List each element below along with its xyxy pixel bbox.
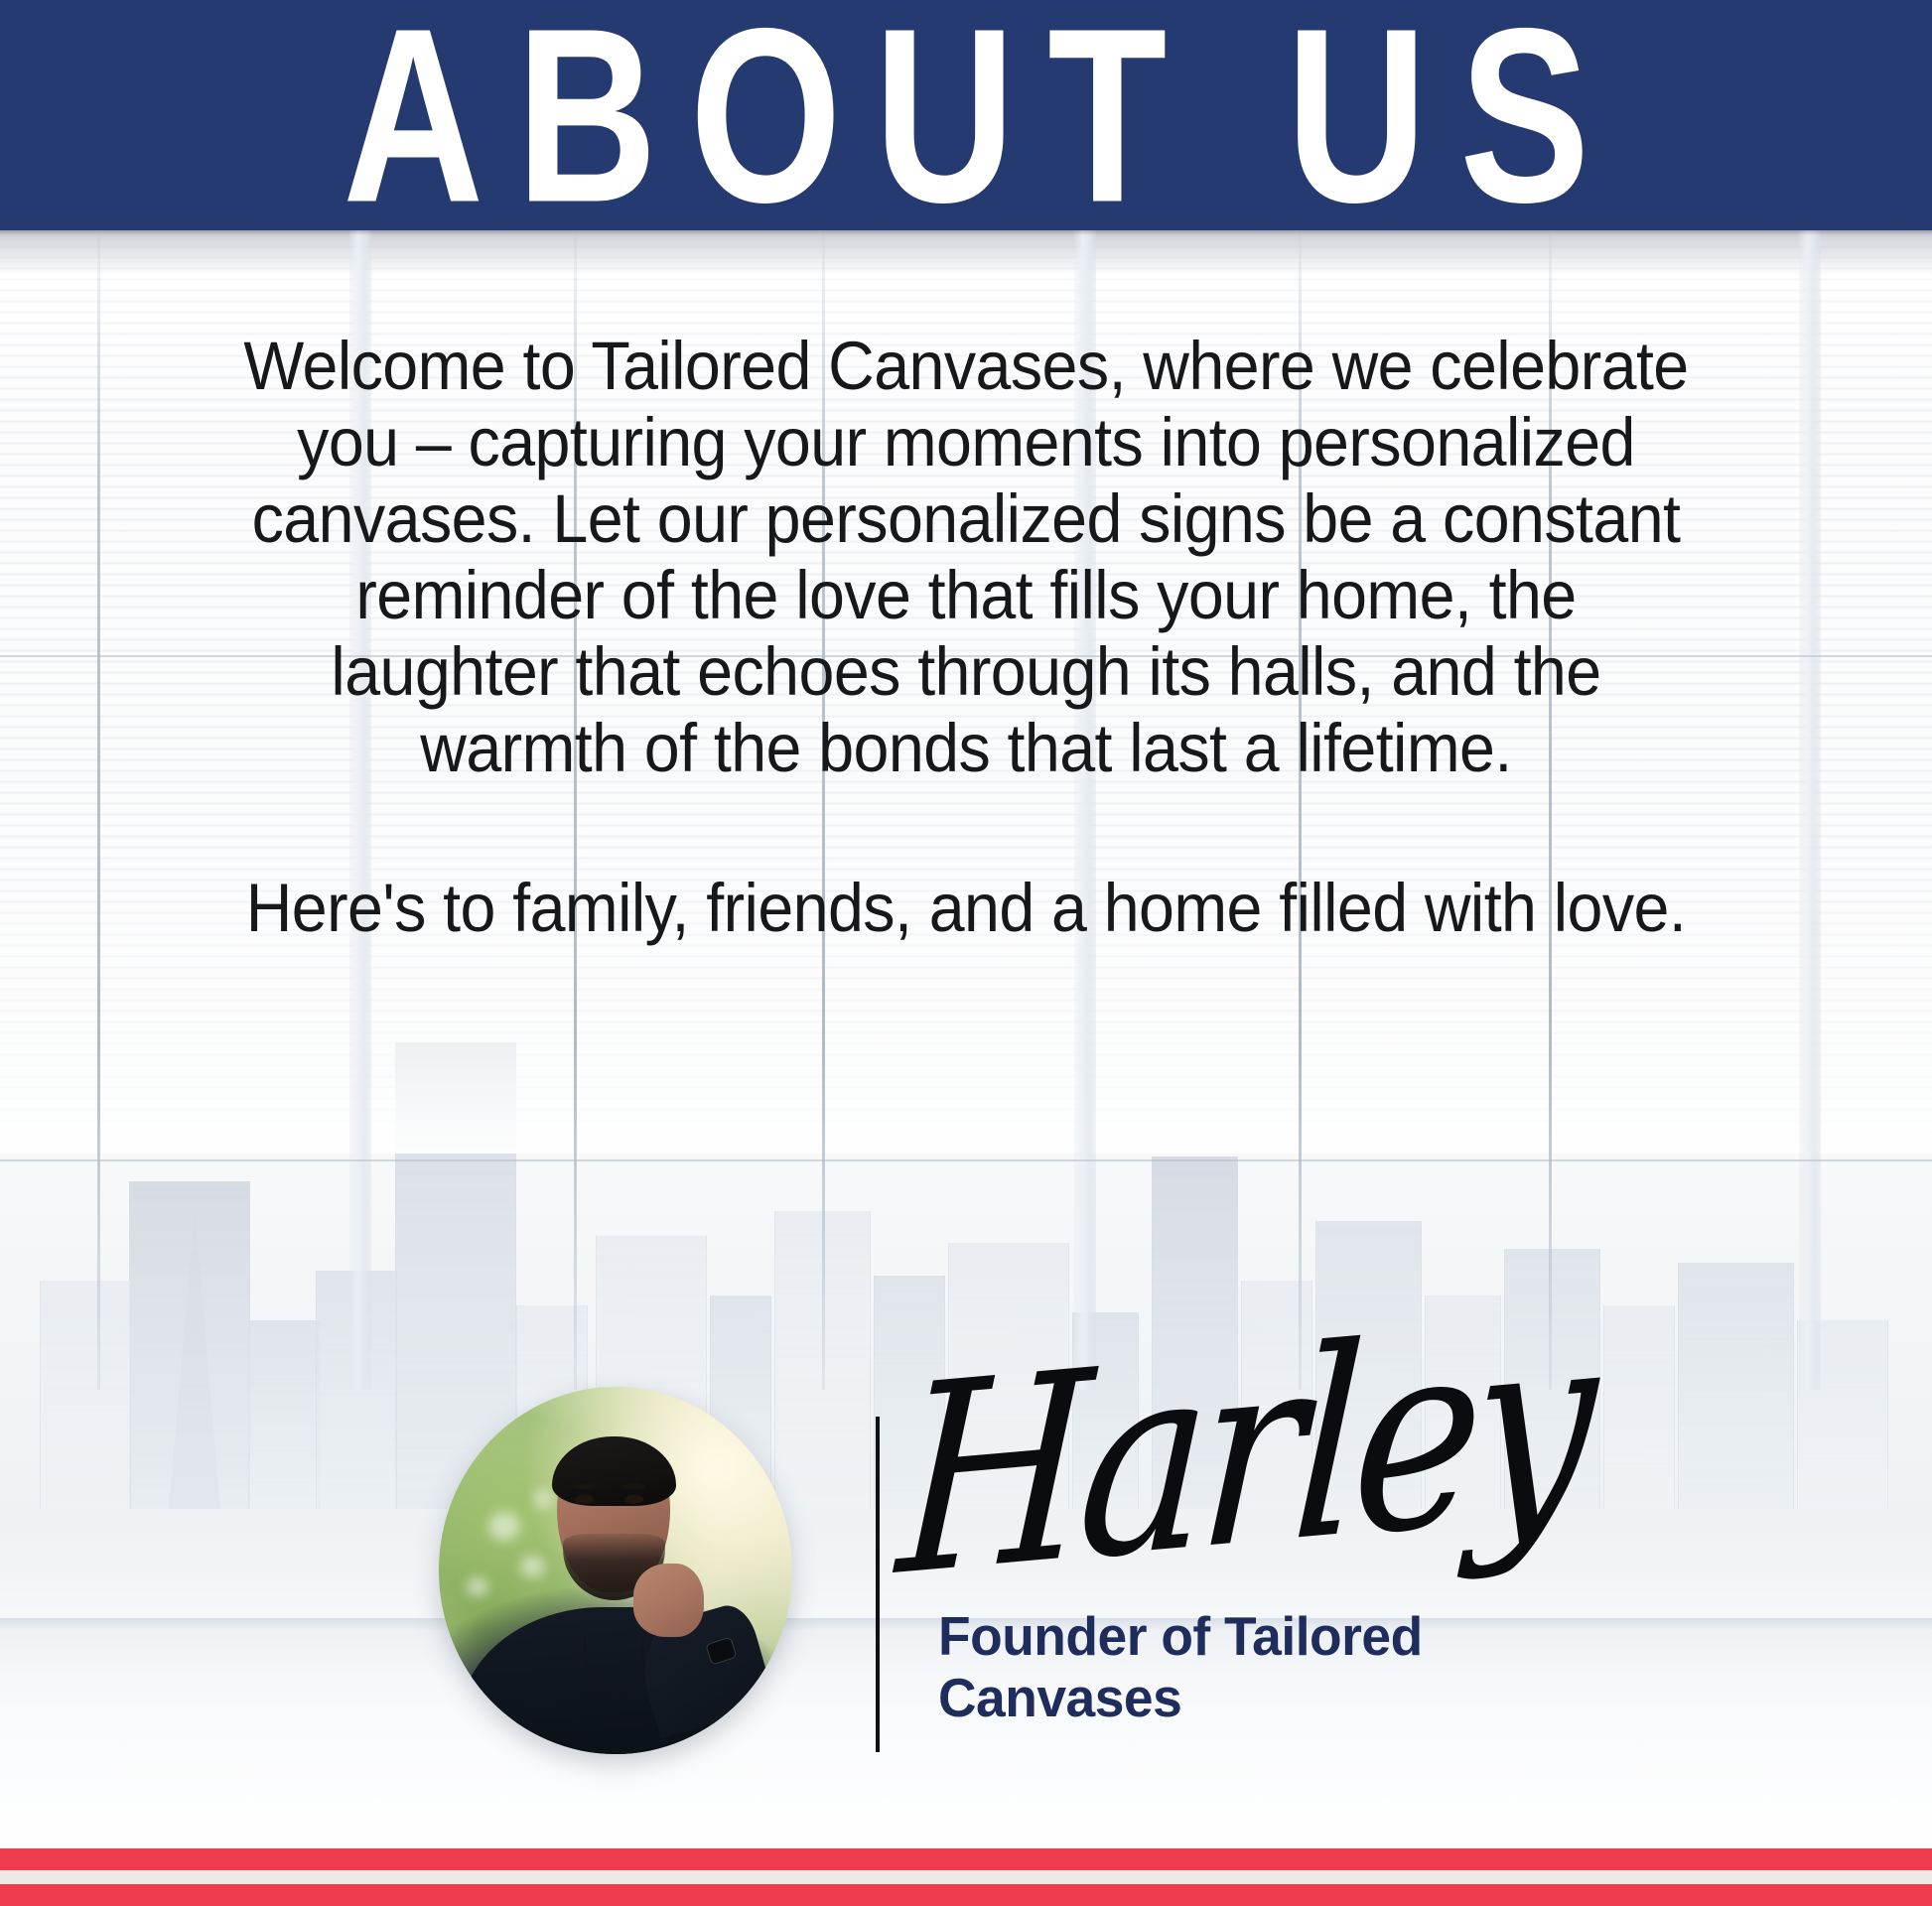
founder-signature-block: Harley Founder of Tailored Canvases bbox=[0, 1385, 1932, 1812]
window-mullion bbox=[97, 230, 100, 1390]
vertical-divider bbox=[876, 1417, 880, 1752]
window-rail bbox=[0, 1159, 1932, 1161]
bottom-accent-bar-top bbox=[0, 1848, 1932, 1870]
paragraph-1: Welcome to Tailored Canvases, where we c… bbox=[239, 328, 1693, 786]
founder-title-line-2: Canvases bbox=[938, 1667, 1535, 1728]
paragraph-2: Here's to family, friends, and a home fi… bbox=[239, 870, 1693, 946]
about-us-copy: Welcome to Tailored Canvases, where we c… bbox=[239, 328, 1693, 946]
about-us-poster: ABOUT US Welcome to Tailored Canvases, w… bbox=[0, 0, 1932, 1906]
header-underglow bbox=[0, 230, 1932, 235]
paragraph-spacer bbox=[239, 786, 1693, 870]
header-band: ABOUT US bbox=[0, 0, 1932, 230]
bottom-accent-bar-bottom bbox=[0, 1884, 1932, 1906]
avatar bbox=[439, 1387, 792, 1754]
page-title: ABOUT US bbox=[310, 0, 1621, 239]
founder-title-line-1: Founder of Tailored bbox=[938, 1605, 1423, 1667]
bottom-accent-bar-gap bbox=[0, 1870, 1932, 1884]
avatar-photo bbox=[439, 1387, 792, 1754]
window-mullion bbox=[1799, 230, 1821, 1390]
founder-title: Founder of Tailored Canvases bbox=[938, 1605, 1535, 1728]
